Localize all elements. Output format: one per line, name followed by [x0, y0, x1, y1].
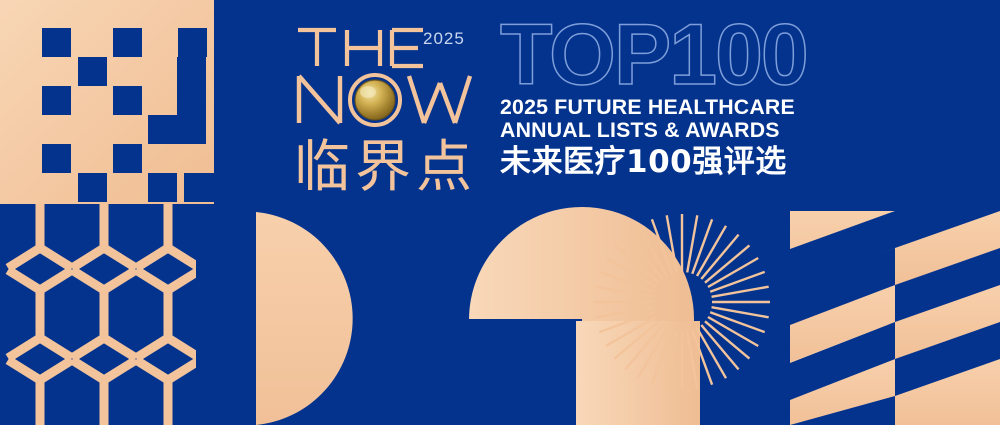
checkerboard-pattern — [0, 0, 214, 204]
logo-chinese: 临界点 — [294, 135, 477, 193]
chevron-stripes-pattern — [790, 204, 1000, 425]
the-now-logo: 2025 临界点 — [292, 18, 492, 193]
notch-hole — [470, 321, 576, 425]
subtitle-en-line2: ANNUAL LISTS & AWARDS — [500, 119, 842, 142]
hexagon-lattice-pattern — [8, 204, 200, 425]
top100-headline: TOP100 — [500, 18, 845, 96]
logo-year: 2025 — [423, 29, 465, 48]
title-block: TOP100 2025 FUTURE HEALTHCARE ANNUAL LIS… — [500, 18, 845, 193]
top100-outline-text: TOP100 — [500, 18, 807, 98]
gold-sphere-icon — [350, 75, 400, 125]
logo-text-the — [298, 30, 423, 66]
subtitle-cn-line: 未来医疗100强评选 — [500, 144, 845, 180]
subtitle-en-line1: 2025 FUTURE HEALTHCARE — [500, 96, 842, 119]
award-banner: 2025 临界点 — [0, 0, 1000, 425]
